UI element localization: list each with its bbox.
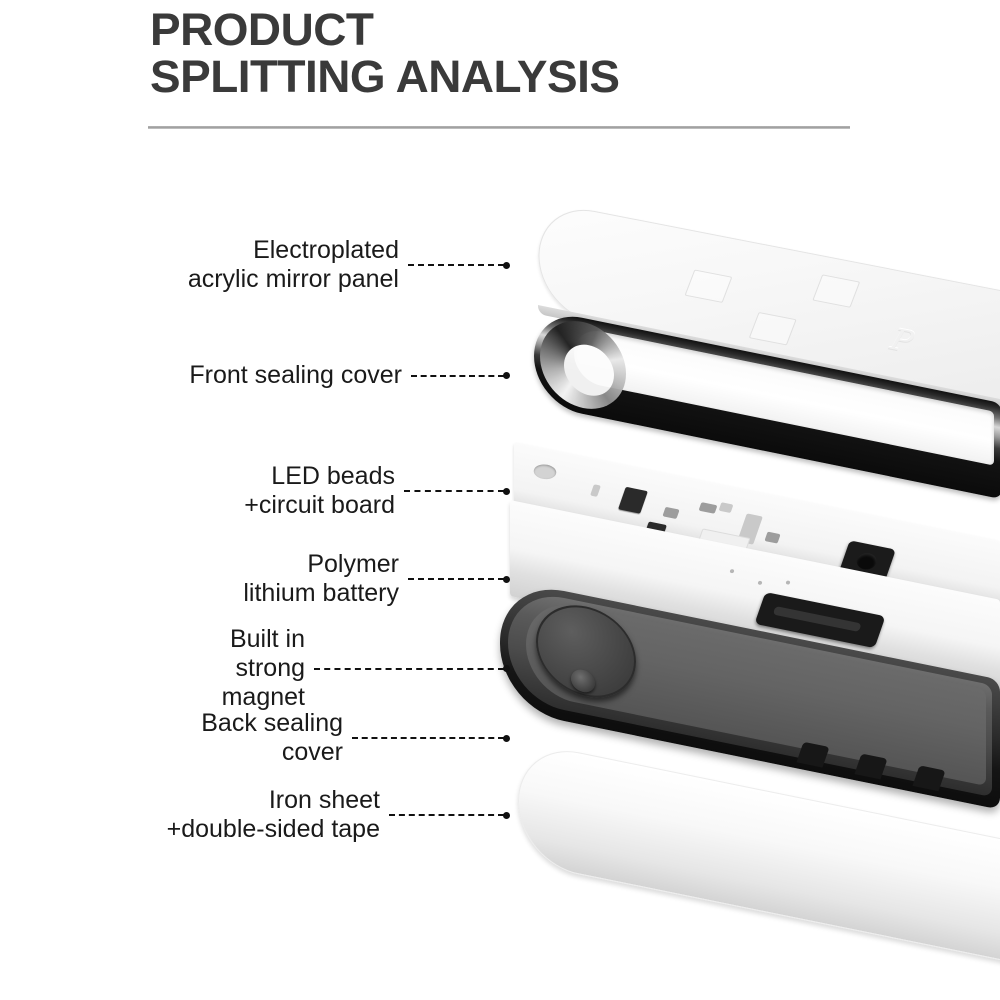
page-title-line-2: SPLITTING ANALYSIS bbox=[150, 53, 925, 100]
callout-led-beads-circuit-board: LED beads +circuit board bbox=[150, 462, 510, 520]
leader-dash bbox=[408, 264, 504, 266]
callout-label: Electroplated acrylic mirror panel bbox=[188, 236, 399, 294]
leader-endpoint bbox=[503, 372, 510, 379]
leader-endpoint bbox=[503, 735, 510, 742]
callout-electroplated-acrylic-mirror-panel: Electroplated acrylic mirror panel bbox=[150, 236, 510, 294]
magnet-post bbox=[571, 667, 595, 694]
leader-line bbox=[408, 576, 510, 583]
leader-line bbox=[408, 262, 510, 269]
title-divider bbox=[148, 126, 850, 129]
callout-label: Front sealing cover bbox=[189, 361, 402, 390]
callout-back-sealing-cover: Back sealing cover bbox=[150, 709, 510, 767]
chrome-ring-icon bbox=[540, 313, 626, 416]
page-title-line-1: PRODUCT bbox=[150, 6, 925, 53]
pcb-component bbox=[719, 502, 734, 513]
exploded-product-diagram: P bbox=[500, 180, 1000, 970]
leader-endpoint bbox=[503, 665, 510, 672]
page-title: PRODUCT SPLITTING ANALYSIS bbox=[150, 6, 910, 100]
chrome-ring-hole bbox=[564, 340, 614, 400]
panel-cutout-icon bbox=[684, 269, 732, 302]
leader-dash bbox=[408, 578, 504, 580]
callout-label: Back sealing cover bbox=[150, 709, 343, 767]
leader-endpoint bbox=[503, 262, 510, 269]
pcb-component bbox=[618, 487, 648, 514]
leader-line bbox=[314, 665, 510, 672]
callout-label: LED beads +circuit board bbox=[244, 462, 395, 520]
pcb-component bbox=[764, 532, 780, 544]
product-splitting-analysis-page: PRODUCT SPLITTING ANALYSIS P bbox=[0, 0, 1000, 1000]
panel-cutout-icon bbox=[749, 312, 797, 345]
pcb-mounting-hole bbox=[532, 463, 559, 481]
panel-cutout-icon bbox=[812, 274, 860, 307]
leader-line bbox=[404, 488, 510, 495]
leader-line bbox=[389, 812, 510, 819]
leader-dash bbox=[314, 668, 504, 670]
callout-label: Polymer lithium battery bbox=[243, 550, 399, 608]
leader-endpoint bbox=[503, 488, 510, 495]
callout-front-sealing-cover: Front sealing cover bbox=[150, 361, 510, 390]
pcb-component bbox=[662, 507, 679, 519]
callout-built-in-strong-magnet: Built in strong magnet bbox=[150, 625, 510, 712]
leader-line bbox=[352, 735, 510, 742]
brand-logo-mark: P bbox=[886, 323, 917, 360]
cover-clip bbox=[912, 765, 945, 791]
leader-dash bbox=[404, 490, 504, 492]
pcb-component bbox=[699, 502, 718, 514]
leader-endpoint bbox=[503, 576, 510, 583]
leader-endpoint bbox=[503, 812, 510, 819]
battery-pin bbox=[729, 569, 734, 574]
battery-pin bbox=[757, 581, 762, 586]
callout-label: Iron sheet +double-sided tape bbox=[167, 786, 380, 844]
cover-clip bbox=[854, 754, 887, 780]
callout-label: Built in strong magnet bbox=[150, 625, 305, 712]
battery-pin bbox=[785, 580, 790, 585]
leader-dash bbox=[389, 814, 504, 816]
leader-dash bbox=[352, 737, 504, 739]
cover-clip bbox=[796, 742, 829, 768]
pcb-component bbox=[590, 484, 601, 497]
callout-polymer-lithium-battery: Polymer lithium battery bbox=[150, 550, 510, 608]
leader-dash bbox=[411, 375, 504, 377]
leader-line bbox=[411, 372, 510, 379]
callout-iron-sheet-double-sided-tape: Iron sheet +double-sided tape bbox=[150, 786, 510, 844]
